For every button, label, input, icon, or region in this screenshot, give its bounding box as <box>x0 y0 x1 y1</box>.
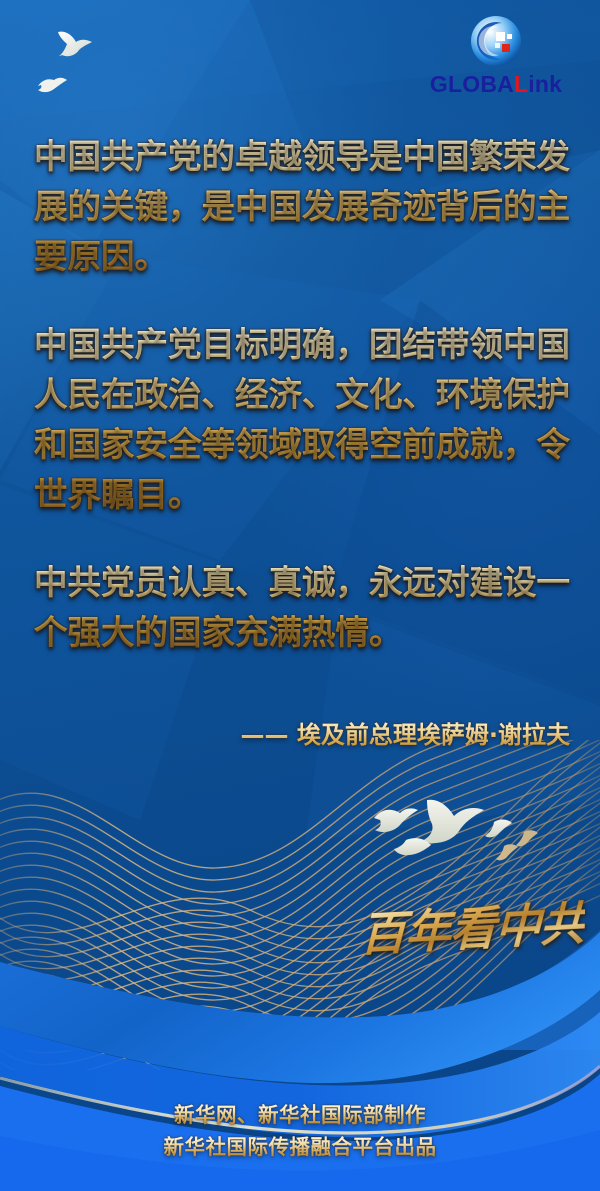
dove-icon <box>52 28 96 64</box>
dove-flock-icon <box>372 798 552 864</box>
dove-icon <box>36 74 68 96</box>
quote-paragraph-1: 中国共产党的卓越领导是中国繁荣发展的关键，是中国发展奇迹背后的主要原因。 <box>34 132 570 282</box>
globe-link-logo-icon <box>469 14 523 68</box>
footer-credits: 新华网、新华社国际部制作 新华社国际传播融合平台出品 <box>0 1071 600 1191</box>
globalink-wordmark: GLOBALink <box>430 73 562 96</box>
globalink-brand: GLOBALink <box>416 14 576 96</box>
footer-line-2: 新华社国际传播融合平台出品 <box>164 1135 437 1160</box>
footer-line-1: 新华网、新华社国际部制作 <box>174 1103 426 1128</box>
quote-paragraph-3: 中共党员认真、真诚，永远对建设一个强大的国家充满热情。 <box>34 558 570 658</box>
brand-word-part1: GLOBA <box>430 71 514 97</box>
quote-paragraph-2: 中国共产党目标明确，团结带领中国人民在政治、经济、文化、环境保护和国家安全等领域… <box>34 320 570 520</box>
brand-word-part2: L <box>514 71 528 97</box>
poster-root: GLOBALink 中国共产党的卓越领导是中国繁荣发展的关键，是中国发展奇迹背后… <box>0 0 600 1191</box>
quote-block: 中国共产党的卓越领导是中国繁荣发展的关键，是中国发展奇迹背后的主要原因。 中国共… <box>34 132 570 658</box>
quote-attribution: —— 埃及前总理埃萨姆·谢拉夫 <box>34 718 584 752</box>
brand-word-part3: ink <box>528 71 562 97</box>
